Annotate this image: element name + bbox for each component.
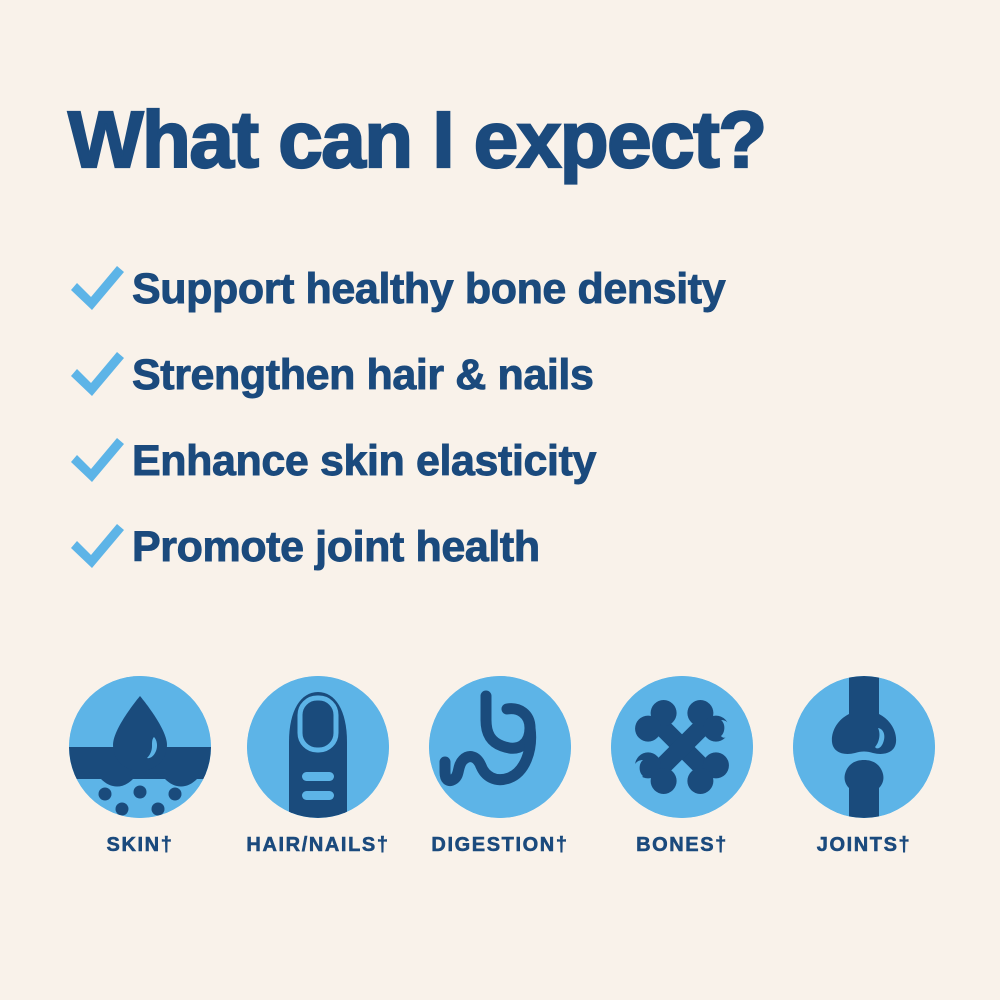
list-item-label: Support healthy bone density [132,265,725,313]
knee-joint-icon [793,676,935,818]
badge-label: DIGESTION† [425,834,575,857]
skin-droplet-icon [69,676,211,818]
benefit-badges-row: SKIN† [0,676,1000,896]
badge-skin: SKIN† [65,676,215,857]
benefits-list: Support healthy bone density Strengthen … [68,246,948,590]
badge-hair-nails: HAIR/NAILS† [243,676,393,857]
checkmark-icon [68,520,132,574]
list-item-label: Enhance skin elasticity [132,437,596,485]
stomach-icon [429,676,571,818]
fingernail-icon [247,676,389,818]
list-item: Strengthen hair & nails [68,332,948,418]
page-title: What can I expect? [68,96,766,184]
benefits-graphic: What can I expect? Support healthy bone … [0,0,1000,1000]
list-item: Promote joint health [68,504,948,590]
checkmark-icon [68,348,132,402]
badge-label: BONES† [607,834,757,857]
checkmark-icon [68,434,132,488]
badge-label: JOINTS† [789,834,939,857]
list-item: Enhance skin elasticity [68,418,948,504]
badge-label: SKIN† [65,834,215,857]
crossed-bones-icon [611,676,753,818]
badge-digestion: DIGESTION† [425,676,575,857]
badge-label: HAIR/NAILS† [243,834,393,857]
list-item-label: Promote joint health [132,523,540,571]
badge-bones: BONES† [607,676,757,857]
list-item: Support healthy bone density [68,246,948,332]
list-item-label: Strengthen hair & nails [132,351,594,399]
checkmark-icon [68,262,132,316]
badge-joints: JOINTS† [789,676,939,857]
